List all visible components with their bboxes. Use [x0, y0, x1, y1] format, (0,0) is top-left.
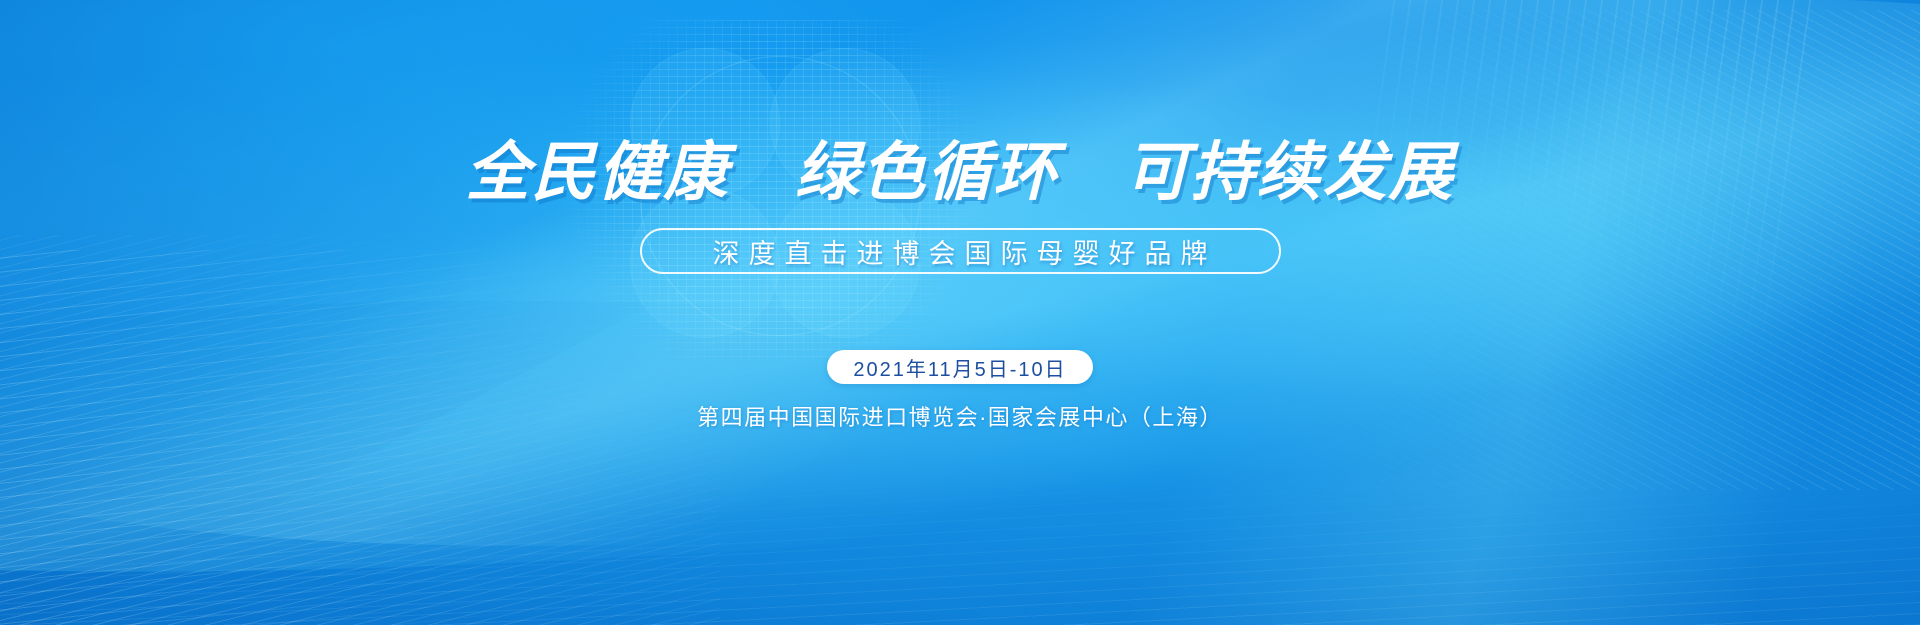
headline-segment-2: 绿色循环 [795, 140, 1059, 204]
banner-headline: 全民健康 绿色循环 可持续发展 [465, 140, 1454, 204]
headline-segment-3: 可持续发展 [1125, 140, 1455, 204]
date-text: 2021年11月5日-10日 [853, 353, 1066, 382]
venue-text: 第四届中国国际进口博览会·国家会展中心（上海） [697, 400, 1223, 432]
banner-content: 全民健康 绿色循环 可持续发展 深度直击进博会国际母婴好品牌 2021年11月5… [0, 0, 1920, 625]
date-pill: 2021年11月5日-10日 [827, 350, 1092, 384]
subtitle-text: 深度直击进博会国际母婴好品牌 [704, 232, 1217, 271]
headline-segment-1: 全民健康 [465, 140, 729, 204]
subtitle-pill: 深度直击进博会国际母婴好品牌 [640, 228, 1281, 274]
event-banner: 全民健康 绿色循环 可持续发展 深度直击进博会国际母婴好品牌 2021年11月5… [0, 0, 1920, 625]
